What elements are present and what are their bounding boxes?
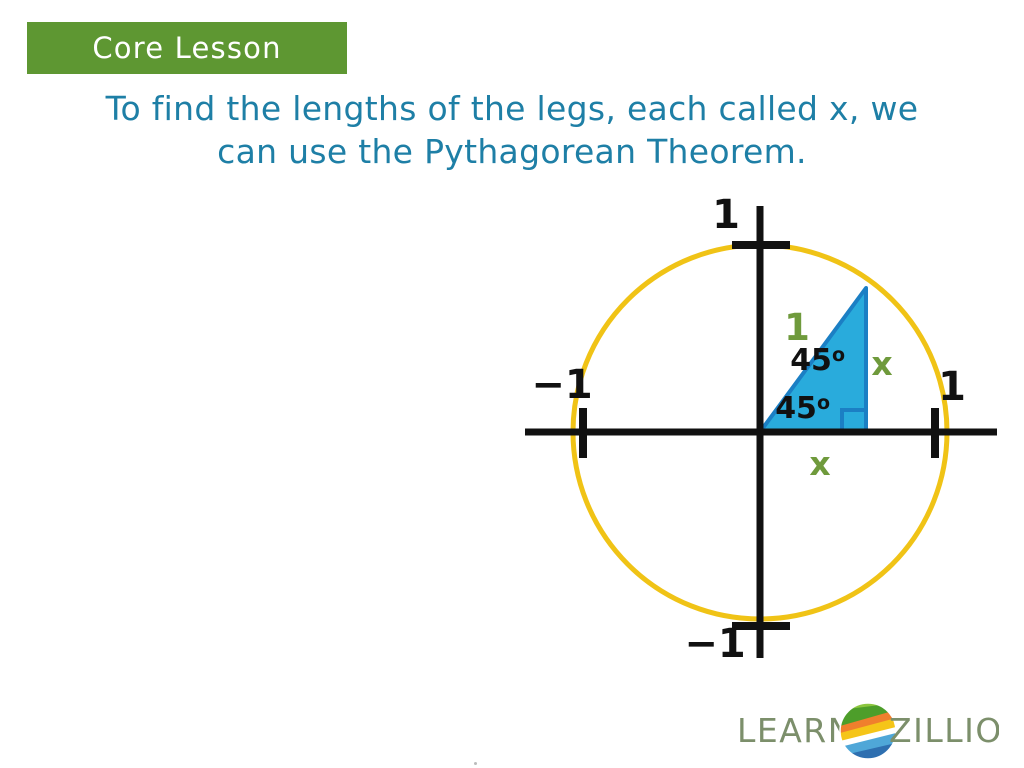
learnzillion-logo: LEARN ZILLION [737,702,999,760]
unit-circle-diagram: 1 −1 −1 1 1 x x 45o 45o [500,180,1024,680]
logo-text-zillion: ZILLION [889,711,999,750]
logo-text-learn: LEARN [737,711,854,750]
axis-label-x-right: 1 [938,364,966,410]
axis-label-y-bottom: −1 [684,621,745,667]
heading-line-2: can use the Pythagorean Theorem. [30,131,994,174]
core-lesson-label: Core Lesson [92,31,281,65]
core-lesson-banner: Core Lesson [27,22,347,74]
page-dot [474,762,477,765]
label-vertical-leg: x [871,344,892,383]
axis-label-y-top: 1 [712,192,740,238]
page-title: To find the lengths of the legs, each ca… [30,88,994,174]
axis-label-x-left: −1 [531,362,592,408]
label-horizontal-leg: x [809,444,830,483]
heading-line-1: To find the lengths of the legs, each ca… [30,88,994,131]
